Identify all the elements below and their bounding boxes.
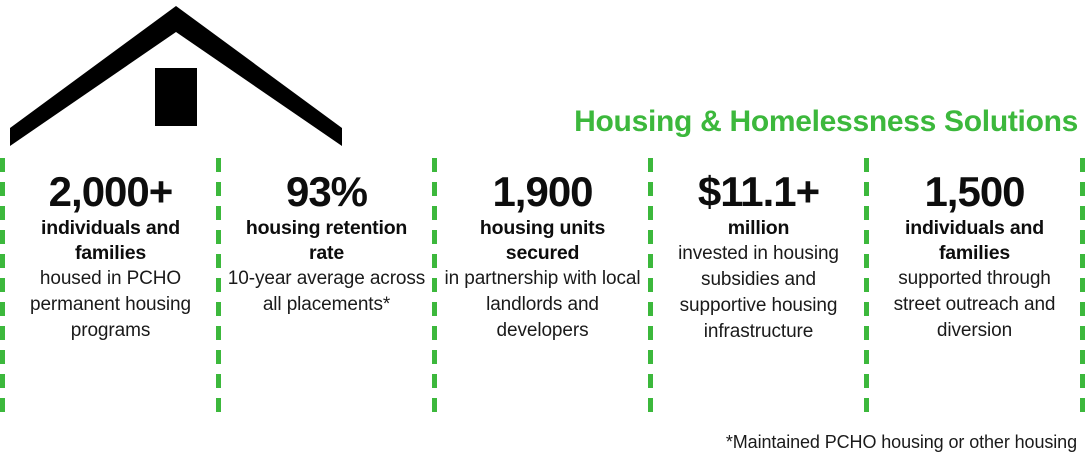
stat-number: 1,900 bbox=[443, 168, 642, 216]
house-roof-icon bbox=[10, 4, 342, 146]
stat-number: 1,500 bbox=[875, 168, 1074, 216]
stat-card-4: $11.1+ million invested in housing subsi… bbox=[653, 158, 864, 420]
stat-description: supported through street outreach and di… bbox=[875, 266, 1074, 344]
footnote: *Maintained PCHO housing or other housin… bbox=[726, 430, 1077, 454]
header: Housing & Homelessness Solutions bbox=[0, 0, 1085, 156]
stat-description: in partnership with local landlords and … bbox=[443, 266, 642, 344]
stat-bold-label: housing units secured bbox=[443, 216, 642, 266]
stat-card-2: 93% housing retention rate 10-year avera… bbox=[221, 158, 432, 420]
stat-card-3: 1,900 housing units secured in partnersh… bbox=[437, 158, 648, 420]
stat-bold-label: individuals and families bbox=[11, 216, 210, 266]
stat-number: 93% bbox=[227, 168, 426, 216]
stats-strip: 2,000+ individuals and families housed i… bbox=[0, 158, 1085, 420]
stat-number: $11.1+ bbox=[659, 168, 858, 216]
housing-solutions-infographic: Housing & Homelessness Solutions 2,000+ … bbox=[0, 0, 1085, 462]
stat-description: 10-year average across all placements* bbox=[227, 266, 426, 318]
page-title: Housing & Homelessness Solutions bbox=[378, 104, 1078, 140]
stat-bold-label: million bbox=[659, 216, 858, 241]
stat-bold-label: individuals and families bbox=[875, 216, 1074, 266]
stat-bold-label: housing retention rate bbox=[227, 216, 426, 266]
stat-card-1: 2,000+ individuals and families housed i… bbox=[5, 158, 216, 420]
stat-description: housed in PCHO permanent housing program… bbox=[11, 266, 210, 344]
stat-description: invested in housing subsidies and suppor… bbox=[659, 241, 858, 345]
stat-number: 2,000+ bbox=[11, 168, 210, 216]
stat-card-5: 1,500 individuals and families supported… bbox=[869, 158, 1080, 420]
dashed-divider bbox=[1080, 158, 1085, 420]
